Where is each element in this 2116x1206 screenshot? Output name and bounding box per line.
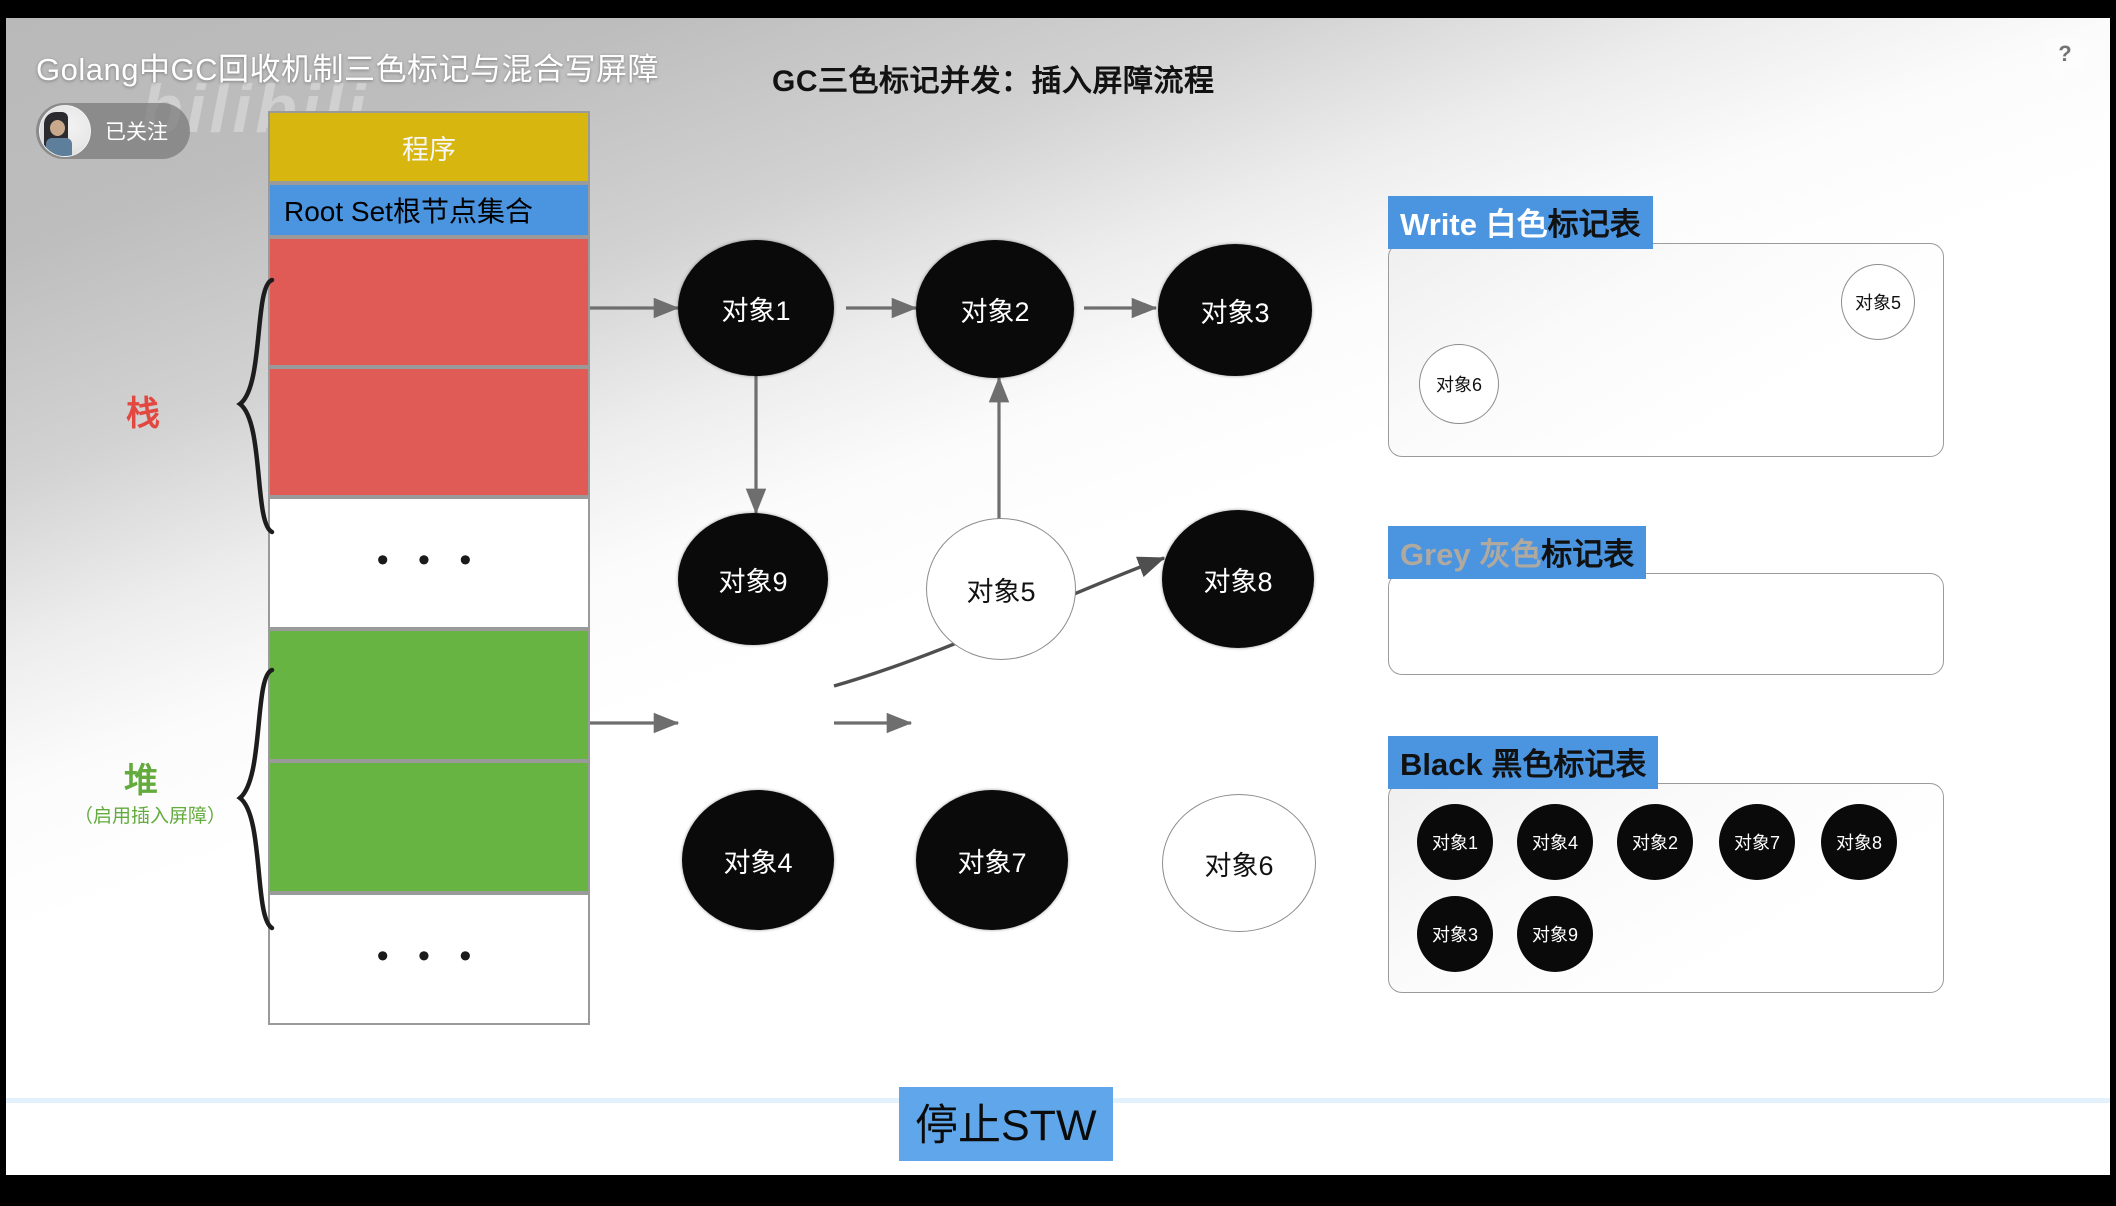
heap-sublabel: （启用插入屏障） [74, 801, 226, 828]
node-label: 对象2 [960, 290, 1029, 329]
white-mark-table: Write 白色标记表 对象5 对象6 [1388, 196, 1944, 457]
graph-node-obj5[interactable]: 对象5 [926, 518, 1076, 660]
mark-chip[interactable]: 对象1 [1417, 804, 1493, 880]
node-label: 对象5 [966, 570, 1035, 609]
stack-frame-block [268, 367, 590, 497]
mark-chip[interactable]: 对象9 [1517, 896, 1593, 972]
mark-chip[interactable]: 对象7 [1719, 804, 1795, 880]
stack-ellipsis-block: • • • [268, 497, 590, 629]
grey-table-title: Grey 灰色标记表 [1388, 526, 1646, 579]
black-title-cn: 黑色 [1483, 747, 1554, 782]
chip-label: 对象8 [1836, 829, 1882, 855]
video-title: Golang中GC回收机制三色标记与混合写屏障 [36, 44, 659, 89]
black-title-en: Black [1400, 747, 1483, 782]
node-label: 对象9 [718, 560, 787, 599]
grey-table-box [1388, 573, 1944, 675]
chip-label: 对象7 [1734, 829, 1780, 855]
white-table-box: 对象5 对象6 [1388, 243, 1944, 457]
grey-title-cn: 灰色 [1471, 537, 1542, 572]
chip-label: 对象6 [1436, 371, 1482, 397]
graph-node-obj8[interactable]: 对象8 [1162, 510, 1314, 648]
graph-node-obj2[interactable]: 对象2 [916, 240, 1074, 378]
node-label: 对象4 [723, 841, 792, 880]
graph-node-obj9[interactable]: 对象9 [678, 513, 828, 645]
mark-chip[interactable]: 对象3 [1417, 896, 1493, 972]
bilibili-tv-logo-icon [1920, 989, 2014, 1067]
ellipsis: • • • [377, 956, 482, 962]
video-viewport[interactable]: bilibili Golang中GC回收机制三色标记与混合写屏障 已关注 ? G… [6, 18, 2110, 1175]
chip-label: 对象9 [1532, 921, 1578, 947]
graph-node-obj3[interactable]: 对象3 [1158, 244, 1312, 376]
grey-mark-table: Grey 灰色标记表 [1388, 526, 1944, 675]
stack-label: 栈 [126, 386, 160, 435]
heap-brace-icon [234, 666, 280, 934]
chip-label: 对象5 [1855, 289, 1901, 315]
uploader-avatar[interactable] [39, 105, 91, 157]
black-table-box: 对象1 对象4 对象2 对象7 对象8 对象3 对象9 [1388, 783, 1944, 993]
node-label: 对象8 [1203, 560, 1272, 599]
mark-chip[interactable]: 对象5 [1841, 264, 1915, 340]
graph-node-obj1[interactable]: 对象1 [678, 240, 834, 376]
node-label: 对象6 [1204, 844, 1273, 883]
white-title-cn: 白色 [1477, 207, 1548, 242]
black-table-title: Black 黑色标记表 [1388, 736, 1658, 789]
heap-label: 堆 [124, 753, 158, 802]
chip-label: 对象1 [1432, 829, 1478, 855]
heap-ellipsis-block: • • • [268, 893, 590, 1025]
black-mark-table: Black 黑色标记表 对象1 对象4 对象2 对象7 对象8 对象3 对象9 [1388, 736, 1944, 993]
mark-chip[interactable]: 对象4 [1517, 804, 1593, 880]
memory-column: 程序 Root Set根节点集合 • • • • • • [268, 111, 590, 1025]
chip-label: 对象2 [1632, 829, 1678, 855]
slide-title: GC三色标记并发：插入屏障流程 [772, 56, 1215, 100]
root-set-block: Root Set根节点集合 [268, 183, 590, 237]
stack-brace-icon [234, 276, 280, 536]
follow-button[interactable]: 已关注 [36, 103, 190, 159]
program-block: 程序 [268, 111, 590, 183]
chip-label: 对象4 [1532, 829, 1578, 855]
black-title-rest: 标记表 [1553, 747, 1646, 782]
graph-node-obj6[interactable]: 对象6 [1162, 794, 1316, 932]
stack-frame-block [268, 237, 590, 367]
follow-label: 已关注 [105, 116, 168, 146]
white-title-rest: 标记表 [1548, 207, 1641, 242]
graph-node-obj4[interactable]: 对象4 [682, 790, 834, 930]
node-label: 对象7 [957, 841, 1026, 880]
question-bubble-icon[interactable]: ? [2046, 38, 2084, 70]
ellipsis: • • • [377, 560, 482, 566]
node-label: 对象3 [1200, 291, 1269, 330]
node-label: 对象1 [721, 289, 790, 328]
graph-node-obj7[interactable]: 对象7 [916, 790, 1068, 930]
grey-title-rest: 标记表 [1541, 537, 1634, 572]
heap-block [268, 629, 590, 761]
screen: bilibili Golang中GC回收机制三色标记与混合写屏障 已关注 ? G… [0, 0, 2116, 1206]
mark-chip[interactable]: 对象8 [1821, 804, 1897, 880]
grey-title-en: Grey [1400, 537, 1471, 572]
heap-block [268, 761, 590, 893]
mark-chip[interactable]: 对象2 [1617, 804, 1693, 880]
white-title-en: Write [1400, 207, 1477, 242]
mark-chip[interactable]: 对象6 [1419, 344, 1499, 424]
stw-badge: 停止STW [899, 1087, 1113, 1161]
white-table-title: Write 白色标记表 [1388, 196, 1653, 249]
chip-label: 对象3 [1432, 921, 1478, 947]
